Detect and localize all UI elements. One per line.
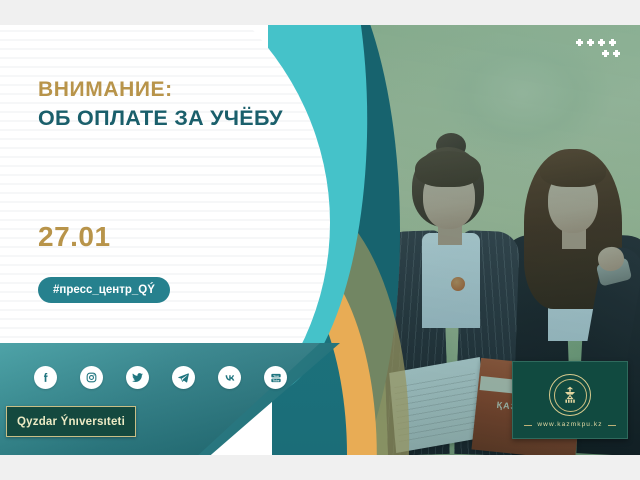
youtube-icon: You Tube (269, 371, 283, 385)
university-seal-card: www.kazmkpu.kz (512, 361, 628, 439)
facebook-icon (39, 371, 52, 384)
cross-dot-icon (598, 39, 605, 46)
telegram-icon (177, 371, 190, 384)
headline-line-2: ОБ ОПЛАТЕ ЗА УЧЁБУ (38, 105, 338, 131)
cross-dots-row-2 (576, 50, 620, 57)
cross-dot-icon (613, 50, 620, 57)
vk-link[interactable] (218, 366, 241, 389)
university-name-text: Qyzdar Ýnıversıteti (17, 416, 125, 428)
telegram-link[interactable] (172, 366, 195, 389)
instagram-link[interactable] (80, 366, 103, 389)
cross-dot-icon (609, 39, 616, 46)
youtube-link[interactable]: You Tube (264, 366, 287, 389)
svg-text:You: You (273, 373, 279, 377)
event-date: 27.01 (38, 221, 111, 253)
headline: ВНИМАНИЕ: ОБ ОПЛАТЕ ЗА УЧЁБУ (38, 77, 338, 131)
twitter-icon (131, 371, 144, 384)
announcement-banner: ҚАЗАҚСТАН ВНИМАНИЕ: ОБ ОПЛАТЕ ЗА УЧЁБУ 2… (0, 25, 640, 455)
cross-dots-row-1 (576, 39, 622, 46)
crest-inner-ring (554, 379, 587, 412)
cross-dot-icon (587, 39, 594, 46)
vk-icon (223, 371, 237, 385)
cross-dot-icon (576, 39, 583, 46)
cross-dot-icon (602, 50, 609, 57)
university-name-badge: Qyzdar Ýnıversıteti (6, 406, 136, 437)
svg-text:Tube: Tube (272, 378, 279, 382)
cross-dots-decoration (576, 39, 622, 61)
instagram-icon (85, 371, 98, 384)
twitter-link[interactable] (126, 366, 149, 389)
screenshot-stage: ҚАЗАҚСТАН ВНИМАНИЕ: ОБ ОПЛАТЕ ЗА УЧЁБУ 2… (0, 0, 640, 480)
seal-website-url: www.kazmkpu.kz (529, 421, 610, 428)
university-crest-icon (549, 374, 591, 416)
social-links: You Tube (34, 366, 287, 389)
crest-emblem (558, 383, 582, 407)
hashtag-badge[interactable]: #пресс_центр_QÝ (38, 277, 170, 303)
facebook-link[interactable] (34, 366, 57, 389)
headline-line-1: ВНИМАНИЕ: (38, 77, 338, 103)
